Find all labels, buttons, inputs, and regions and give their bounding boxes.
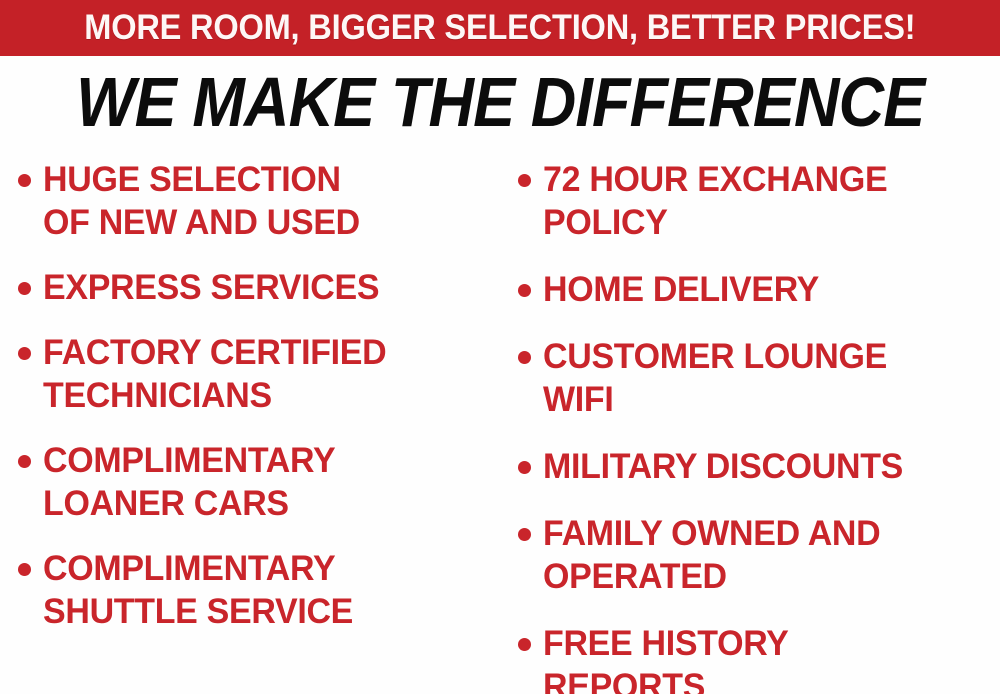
- list-item: MILITARY DISCOUNTS: [518, 445, 1000, 488]
- list-item-label: HUGE SELECTION OF NEW AND USED: [43, 158, 360, 244]
- bullet-dot-icon: [18, 282, 31, 295]
- list-item-label: CUSTOMER LOUNGE WIFI: [543, 335, 887, 421]
- list-item: FACTORY CERTIFIED TECHNICIANS: [18, 331, 500, 417]
- list-item-label: EXPRESS SERVICES: [43, 266, 379, 309]
- bullet-dot-icon: [518, 174, 531, 187]
- list-item-label: FREE HISTORY REPORTS: [543, 622, 789, 694]
- headline-block: WE MAKE THE DIFFERENCE: [0, 66, 1000, 138]
- bullet-dot-icon: [18, 455, 31, 468]
- bullet-dot-icon: [518, 461, 531, 474]
- benefits-column-right: 72 HOUR EXCHANGE POLICY HOME DELIVERY CU…: [500, 158, 1000, 694]
- benefits-column-left: HUGE SELECTION OF NEW AND USED EXPRESS S…: [0, 158, 500, 694]
- benefits-columns: HUGE SELECTION OF NEW AND USED EXPRESS S…: [0, 158, 1000, 694]
- list-item: HOME DELIVERY: [518, 268, 1000, 311]
- list-item: CUSTOMER LOUNGE WIFI: [518, 335, 1000, 421]
- list-item-label: MILITARY DISCOUNTS: [543, 445, 903, 488]
- list-item: COMPLIMENTARY LOANER CARS: [18, 439, 500, 525]
- bullet-dot-icon: [518, 638, 531, 651]
- promo-banner: MORE ROOM, BIGGER SELECTION, BETTER PRIC…: [0, 0, 1000, 56]
- list-item: COMPLIMENTARY SHUTTLE SERVICE: [18, 547, 500, 633]
- list-item-label: 72 HOUR EXCHANGE POLICY: [543, 158, 887, 244]
- page-title: WE MAKE THE DIFFERENCE: [76, 66, 924, 138]
- bullet-dot-icon: [518, 284, 531, 297]
- bullet-dot-icon: [518, 351, 531, 364]
- list-item: FAMILY OWNED AND OPERATED: [518, 512, 1000, 598]
- advertisement-page: MORE ROOM, BIGGER SELECTION, BETTER PRIC…: [0, 0, 1000, 694]
- list-item: 72 HOUR EXCHANGE POLICY: [518, 158, 1000, 244]
- list-item-label: HOME DELIVERY: [543, 268, 819, 311]
- list-item-label: FACTORY CERTIFIED TECHNICIANS: [43, 331, 386, 417]
- list-item: HUGE SELECTION OF NEW AND USED: [18, 158, 500, 244]
- promo-banner-text: MORE ROOM, BIGGER SELECTION, BETTER PRIC…: [84, 10, 915, 46]
- list-item-label: COMPLIMENTARY SHUTTLE SERVICE: [43, 547, 353, 633]
- bullet-dot-icon: [18, 174, 31, 187]
- bullet-dot-icon: [518, 528, 531, 541]
- list-item-label: COMPLIMENTARY LOANER CARS: [43, 439, 335, 525]
- list-item: EXPRESS SERVICES: [18, 266, 500, 309]
- bullet-dot-icon: [18, 563, 31, 576]
- bullet-dot-icon: [18, 347, 31, 360]
- list-item: FREE HISTORY REPORTS: [518, 622, 1000, 694]
- list-item-label: FAMILY OWNED AND OPERATED: [543, 512, 880, 598]
